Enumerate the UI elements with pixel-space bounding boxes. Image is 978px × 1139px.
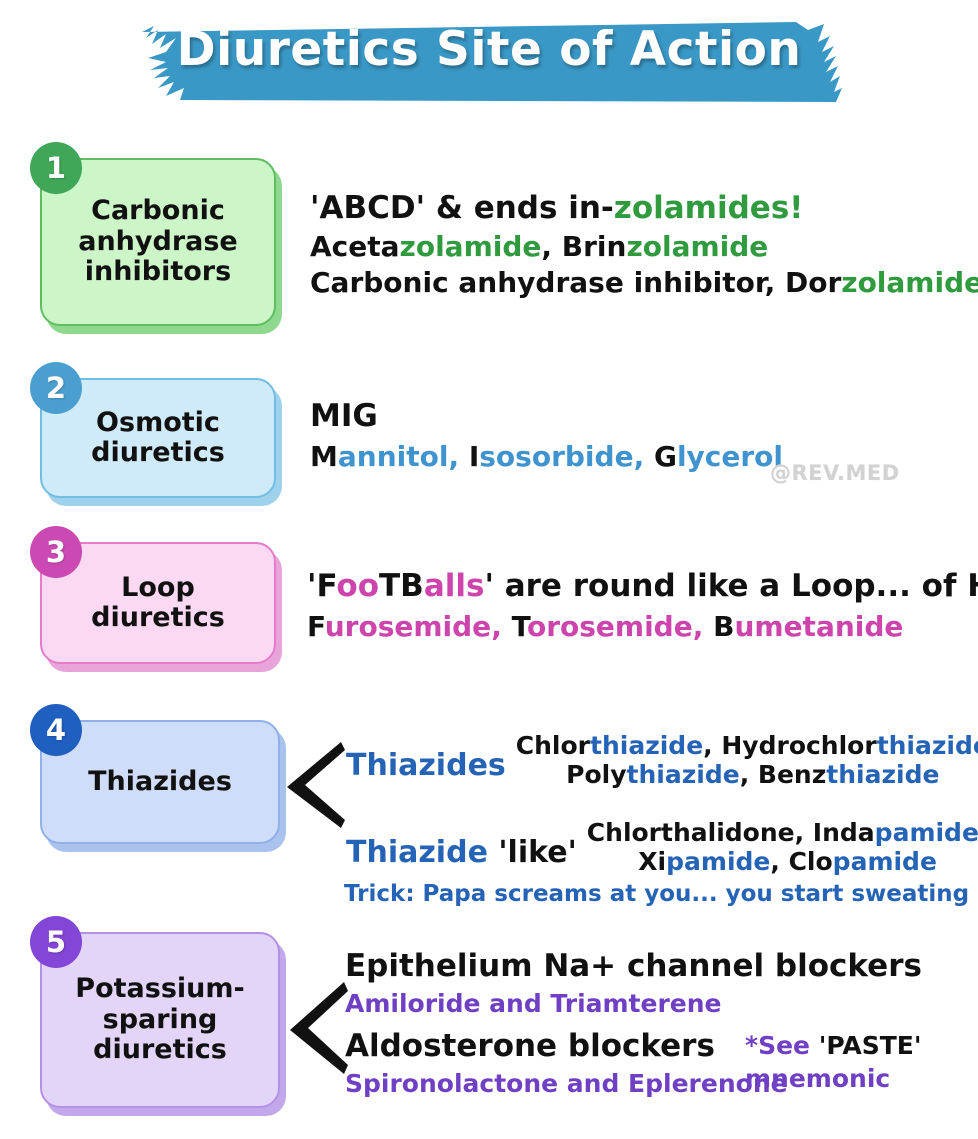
branch-thiazides: Thiazides Chlorthiazide, Hydrochlorthiaz…: [346, 731, 978, 789]
branch-heading: Epithelium Na+ channel blockers: [345, 948, 922, 985]
drug-line: Polythiazide, Benzthiazide: [516, 760, 978, 789]
badge-number-4: 4: [30, 704, 82, 756]
badge-number-3: 3: [30, 526, 82, 578]
mnemonic-line: 'ABCD' & ends in-zolamides!: [310, 190, 978, 227]
card-label: Osmotic diuretics: [83, 408, 233, 469]
note-line-2: mnemonic: [745, 1063, 922, 1096]
see-paste-note: *See 'PASTE' mnemonic: [745, 1030, 922, 1095]
section-2: Osmotic diuretics 2 MIG Mannitol, Isosor…: [0, 368, 978, 518]
badge-number-5: 5: [30, 916, 82, 968]
drug-line: Chlorthalidone, Indapamide,: [587, 818, 978, 847]
badge-number-2: 2: [30, 362, 82, 414]
section-3-content: 'FooTBalls' are round like a Loop... of …: [307, 568, 978, 643]
card-label: Potassium- sparing diuretics: [67, 974, 252, 1066]
section-2-content: MIG Mannitol, Isosorbide, Glycerol: [310, 398, 783, 473]
mnemonic-line: 'FooTBalls' are round like a Loop... of …: [307, 568, 978, 605]
branch-thiazide-like: Thiazide 'like' Chlorthalidone, Indapami…: [346, 818, 978, 876]
section-5: Potassium- sparing diuretics 5 Epitheliu…: [0, 918, 978, 1139]
section-1-content: 'ABCD' & ends in-zolamides! Acetazolamid…: [310, 190, 978, 299]
badge-number-1: 1: [30, 142, 82, 194]
branch-body: Chlorthalidone, Indapamide, Xipamide, Cl…: [587, 818, 978, 876]
badge-label: 3: [46, 535, 66, 569]
drug-line: Furosemide, Torosemide, Bumetanide: [307, 610, 978, 643]
branch-label: Thiazides: [346, 748, 506, 783]
drug-line: Chlorthiazide, Hydrochlorthiazide: [516, 731, 978, 760]
card-label: Thiazides: [80, 767, 240, 798]
branch-chevron-icon: [286, 980, 350, 1076]
page-title: Diuretics Site of Action: [0, 22, 978, 77]
badge-label: 1: [46, 151, 66, 185]
watermark: @REV.MED: [770, 461, 900, 485]
section-1: Carbonic anhydrase inhibitors 1 'ABCD' &…: [0, 148, 978, 343]
drug-line: Xipamide, Clopamide: [587, 847, 978, 876]
badge-label: 2: [46, 371, 66, 405]
section-3: Loop diuretics 3 'FooTBalls' are round l…: [0, 532, 978, 687]
branch-body: Chlorthiazide, Hydrochlorthiazide Polyth…: [516, 731, 978, 789]
note-line-1: *See 'PASTE': [745, 1030, 922, 1063]
branch-label: Thiazide 'like': [346, 835, 577, 870]
drug-line: Carbonic anhydrase inhibitor, Dorzolamid…: [310, 266, 978, 299]
section-4: Thiazides 4 Thiazides Chlorthiazide, Hyd…: [0, 706, 978, 916]
drug-line: Mannitol, Isosorbide, Glycerol: [310, 440, 783, 473]
card-label: Loop diuretics: [83, 573, 233, 634]
trick-line: Trick: Papa screams at you... you start …: [344, 881, 978, 909]
title-banner: Diuretics Site of Action: [0, 8, 978, 116]
drug-line: Amiloride and Triamterene: [345, 989, 922, 1019]
drug-line: Acetazolamide, Brinzolamide: [310, 230, 978, 263]
mnemonic-line: MIG: [310, 398, 783, 435]
badge-label: 5: [46, 925, 66, 959]
badge-label: 4: [46, 713, 66, 747]
branch-chevron-icon: [283, 740, 347, 830]
card-label: Carbonic anhydrase inhibitors: [70, 196, 246, 288]
